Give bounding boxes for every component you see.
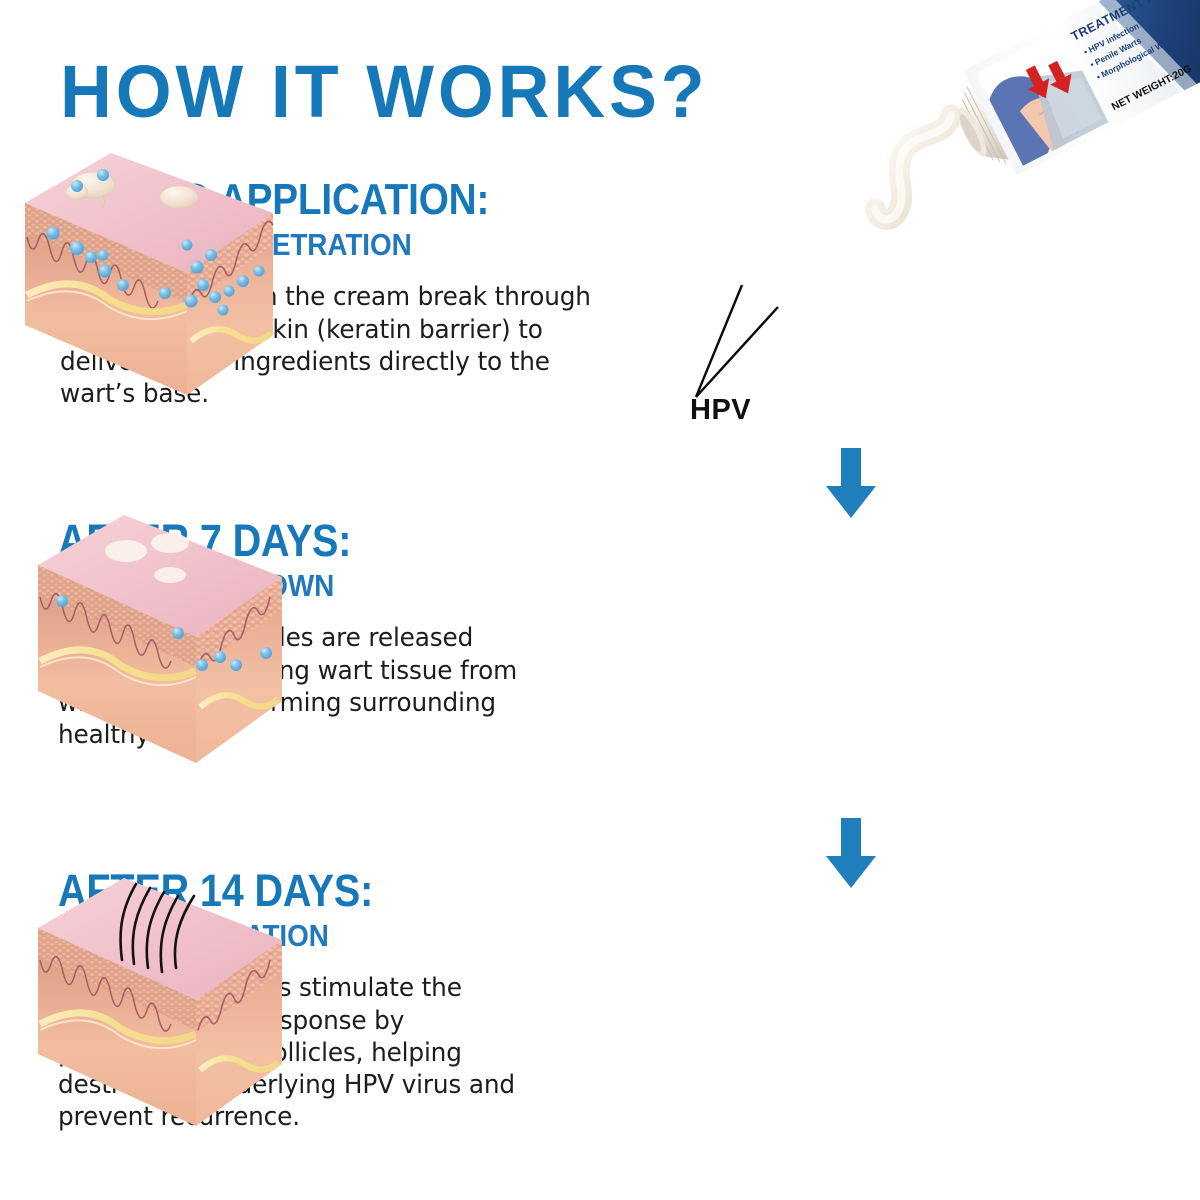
wart-bump [160,186,198,208]
skin-block-stage-1 [15,145,275,435]
product-tube: TREATMENT FOR • HPV infection • Penile W… [930,0,1200,190]
down-arrow-icon-1 [822,448,880,520]
hpv-label: HPV [690,394,751,427]
skin-block-stage-2 [30,505,285,805]
hpv-leader-lines [660,255,860,405]
page-title: HOW IT WORKS? [60,58,709,126]
infographic-page: HOW IT WORKS? DURING APPLICATION: DEEP S… [0,0,1200,1200]
skin-block-stage-3 [30,868,285,1168]
down-arrow-icon-2 [822,818,880,890]
